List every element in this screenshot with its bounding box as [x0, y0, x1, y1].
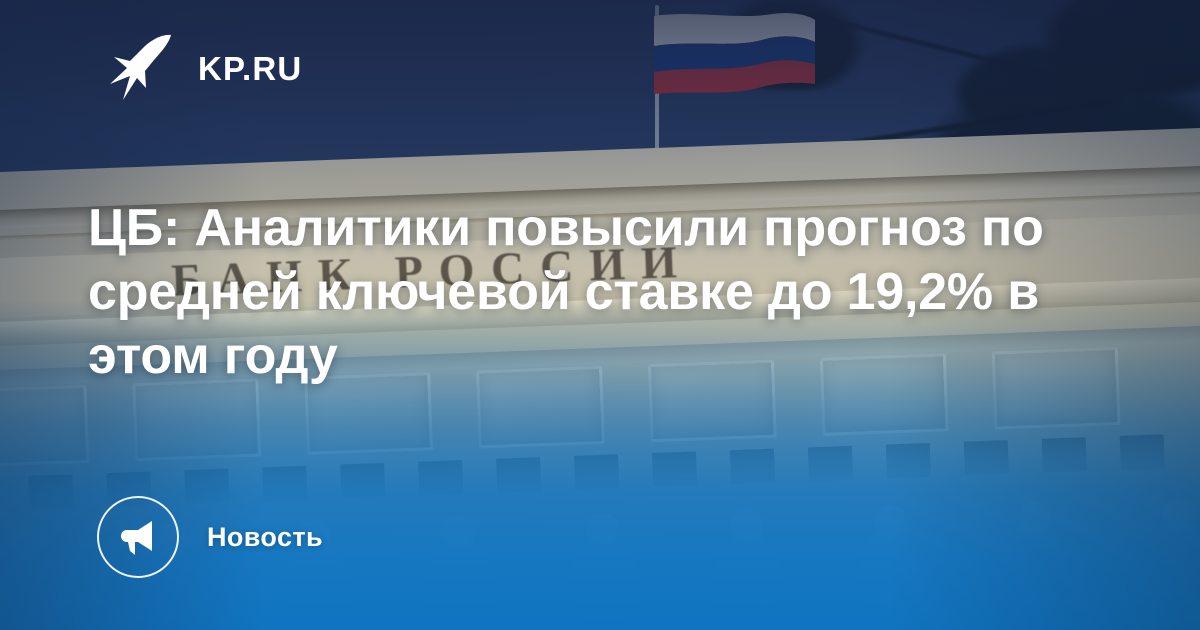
- swallow-bird-icon: [110, 32, 172, 104]
- page-title: ЦБ: Аналитики повысили прогноз по средне…: [88, 196, 1088, 388]
- badge-label-text: Новость: [207, 522, 323, 553]
- brand-logo[interactable]: KP.RU: [110, 32, 302, 104]
- status-badge[interactable]: Новость: [97, 496, 323, 578]
- card-content: KP.RU ЦБ: Аналитики повысили прогноз по …: [0, 0, 1200, 630]
- news-share-card: БАНК РОССИИ: [0, 0, 1200, 630]
- badge-icon-circle: [97, 496, 179, 578]
- brand-name-text: KP.RU: [198, 52, 302, 85]
- megaphone-icon: [118, 517, 158, 557]
